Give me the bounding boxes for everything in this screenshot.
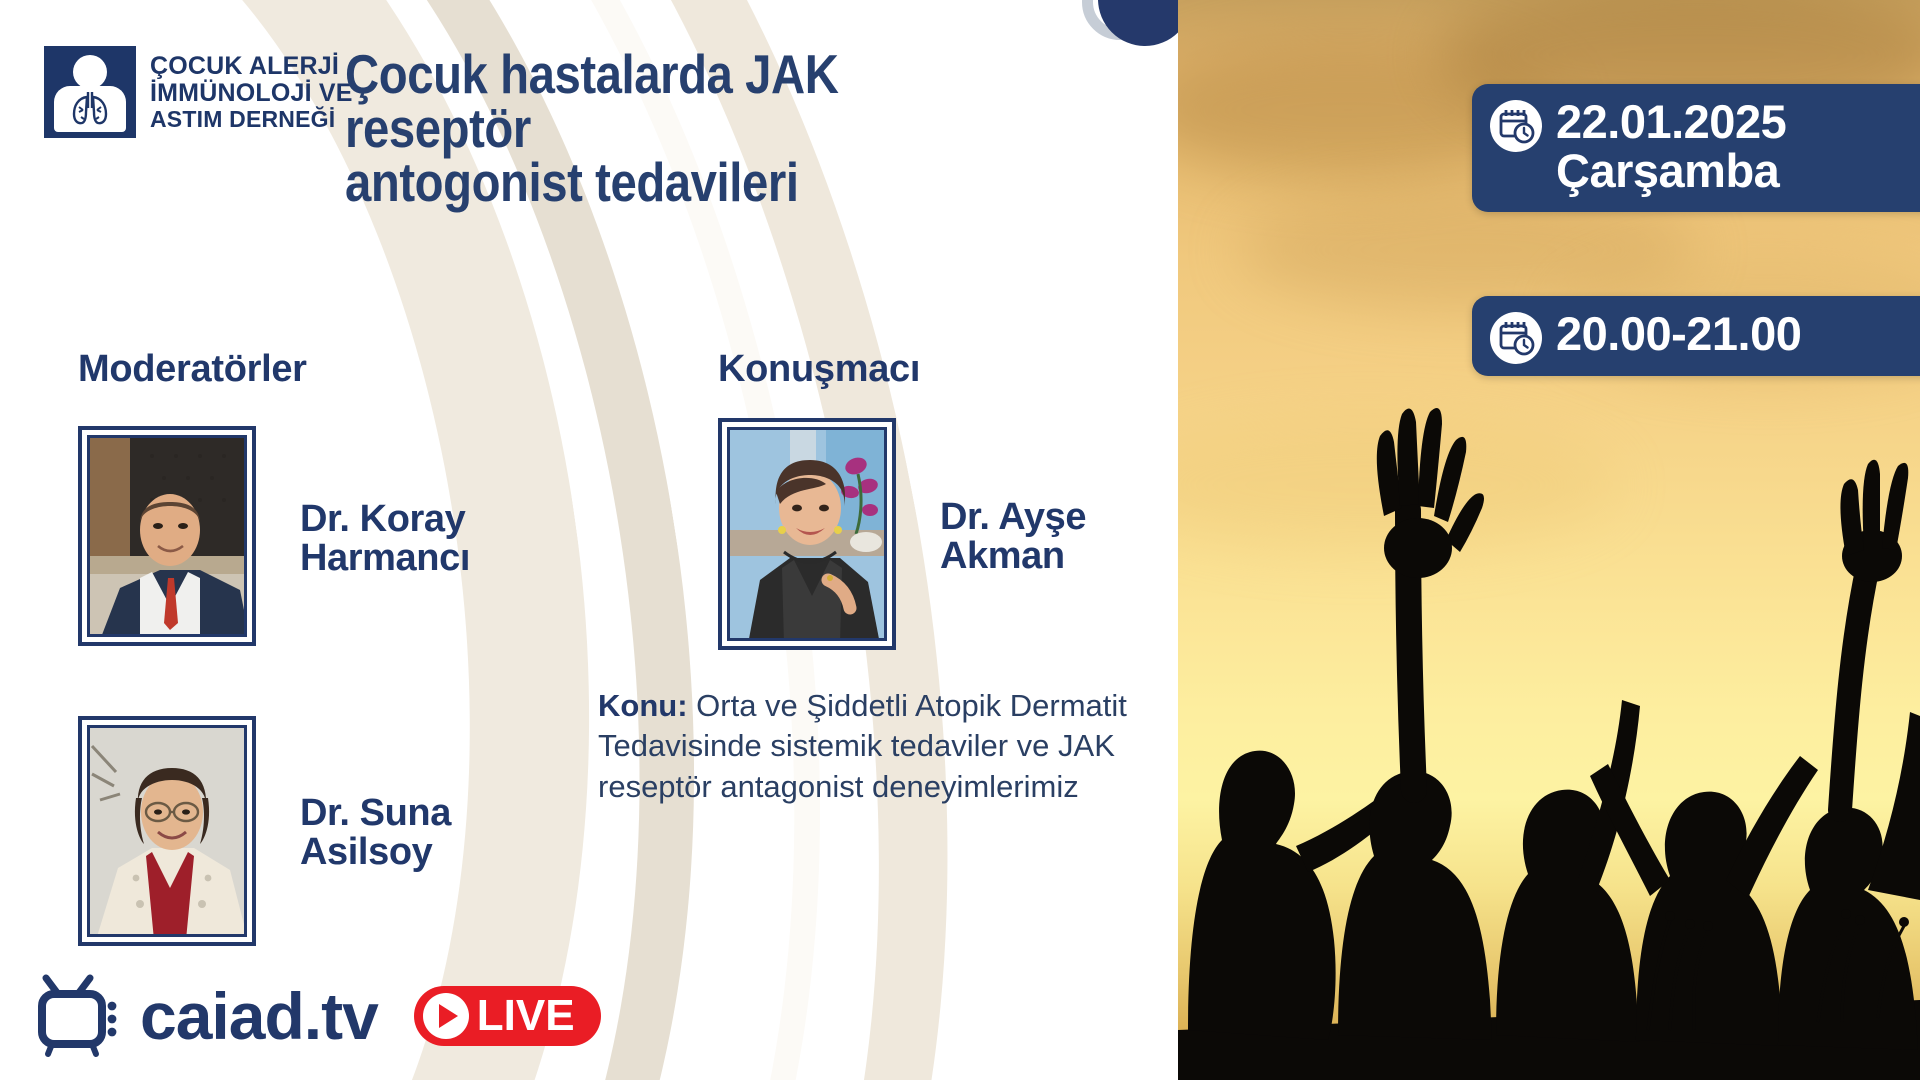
portrait-frame [78,716,256,946]
date-text: 22.01.2025 Çarşamba [1556,98,1786,196]
footer-branding: caiad.tv LIVE [38,974,601,1058]
portrait-inner [727,427,887,641]
site-name[interactable]: caiad.tv [140,983,378,1049]
avatar [730,430,887,641]
avatar [90,728,247,937]
portrait-inner [87,725,247,937]
time-text: 20.00-21.00 [1556,310,1801,359]
organization-logo: ÇOCUK ALERJİ İMMÜNOLOJİ VE ASTIM DERNEĞİ [44,46,353,138]
play-circle-icon [423,993,469,1039]
speaker-heading: Konuşmacı [718,348,920,391]
topic-label: Konu: [598,688,688,723]
org-line-2: İMMÜNOLOJİ VE [150,80,353,107]
moderators-heading: Moderatörler [78,348,307,391]
calendar-clock-icon [1490,312,1542,364]
calendar-clock-icon [1490,100,1542,152]
avatar [90,438,247,637]
left-content-panel: ÇOCUK ALERJİ İMMÜNOLOJİ VE ASTIM DERNEĞİ… [0,0,1178,1080]
org-line-3: ASTIM DERNEĞİ [150,107,353,132]
moderator-card-1: Dr. Koray Harmancı [78,426,470,646]
live-badge[interactable]: LIVE [414,986,601,1046]
webinar-poster: ÇOCUK ALERJİ İMMÜNOLOJİ VE ASTIM DERNEĞİ… [0,0,1920,1080]
moderator-name-2: Dr. Suna Asilsoy [300,794,451,872]
title-line-2: antogonist tedavileri [345,156,1033,210]
portrait-frame [78,426,256,646]
page-title: Çocuk hastalarda JAK reseptör antogonist… [345,48,1033,210]
title-line-1: Çocuk hastalarda JAK reseptör [345,48,1033,156]
organization-name: ÇOCUK ALERJİ İMMÜNOLOJİ VE ASTIM DERNEĞİ [150,53,353,132]
speaker-card: Dr. Ayşe Akman [718,418,1086,650]
portrait-inner [87,435,247,637]
torso-lungs-icon [44,46,136,138]
speaker-name: Dr. Ayşe Akman [940,498,1086,576]
lungs-glyph [68,90,112,126]
television-icon [38,974,134,1058]
live-label: LIVE [477,994,575,1038]
date-badge: 22.01.2025 Çarşamba [1472,84,1920,212]
portrait-frame [718,418,896,650]
moderator-name-1: Dr. Koray Harmancı [300,500,470,578]
topic-block: Konu: Orta ve Şiddetli Atopik Dermatit T… [598,686,1178,807]
org-line-1: ÇOCUK ALERJİ [150,53,353,80]
moderator-card-2: Dr. Suna Asilsoy [78,716,451,946]
time-badge: 20.00-21.00 [1472,296,1920,376]
